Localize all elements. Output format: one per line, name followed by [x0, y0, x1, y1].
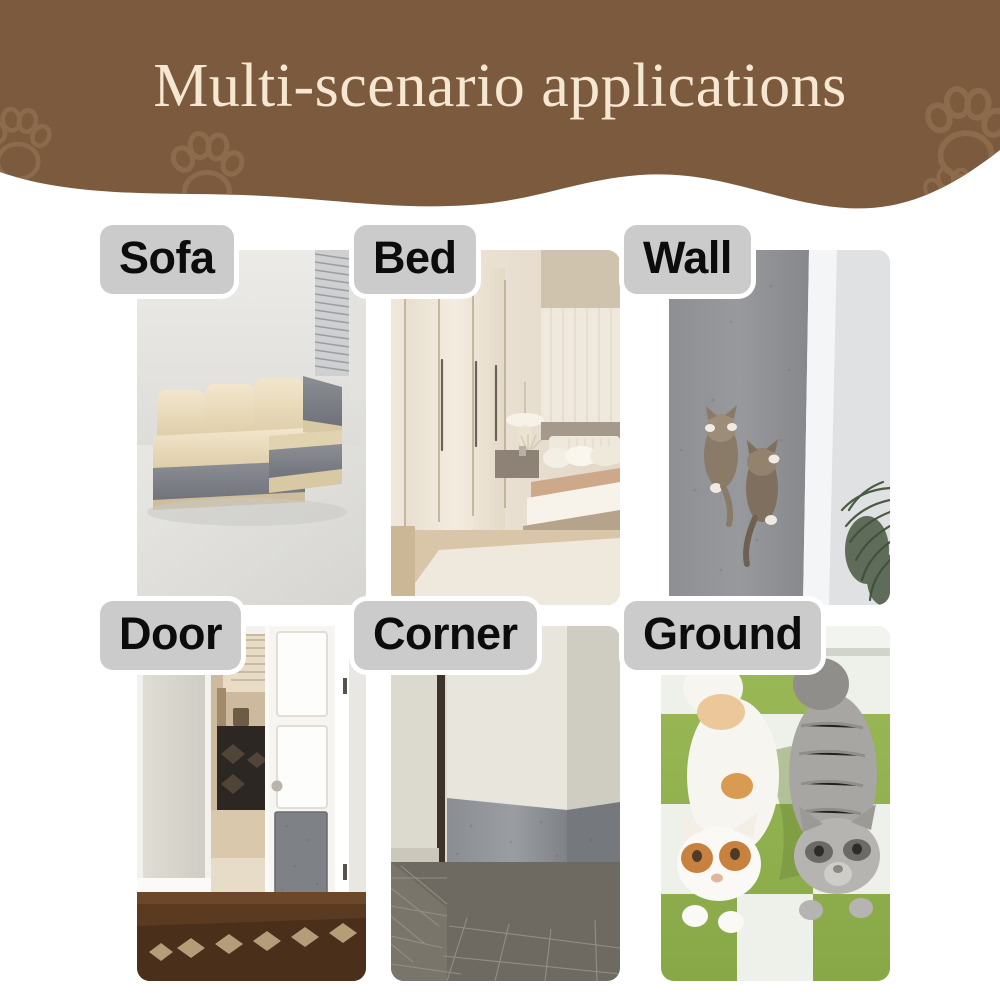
scenario-badge-sofa[interactable]: Sofa — [100, 225, 234, 294]
scenario-label-door: Door — [119, 606, 222, 662]
scenario-card-ground[interactable]: Ground — [661, 626, 890, 981]
page-title: Multi-scenario applications — [0, 48, 1000, 124]
sofa-scene-photo — [137, 250, 366, 605]
scenario-badge-bed[interactable]: Bed — [354, 225, 476, 294]
corner-scene-photo — [391, 626, 620, 981]
header-banner: Multi-scenario applications — [0, 0, 1000, 232]
scenario-label-ground: Ground — [643, 606, 802, 662]
scenario-label-sofa: Sofa — [119, 230, 215, 286]
scenario-label-corner: Corner — [373, 606, 518, 662]
scenario-badge-wall[interactable]: Wall — [624, 225, 751, 294]
scenario-badge-ground[interactable]: Ground — [624, 601, 821, 670]
door-scene-photo — [137, 626, 366, 981]
bed-scene-photo — [391, 250, 620, 605]
scenario-card-corner[interactable]: Corner — [391, 626, 620, 981]
wall-scene-photo — [661, 250, 890, 605]
scenario-label-bed: Bed — [373, 230, 457, 286]
scenario-card-wall[interactable]: Wall — [661, 250, 890, 605]
scenario-card-door[interactable]: Door — [137, 626, 366, 981]
scenario-label-wall: Wall — [643, 230, 732, 286]
scenario-badge-door[interactable]: Door — [100, 601, 241, 670]
scenario-grid: Sofa — [0, 232, 1000, 1000]
scenario-badge-corner[interactable]: Corner — [354, 601, 537, 670]
ground-scene-photo — [661, 626, 890, 981]
scenario-card-sofa[interactable]: Sofa — [137, 250, 366, 605]
scenario-card-bed[interactable]: Bed — [391, 250, 620, 605]
